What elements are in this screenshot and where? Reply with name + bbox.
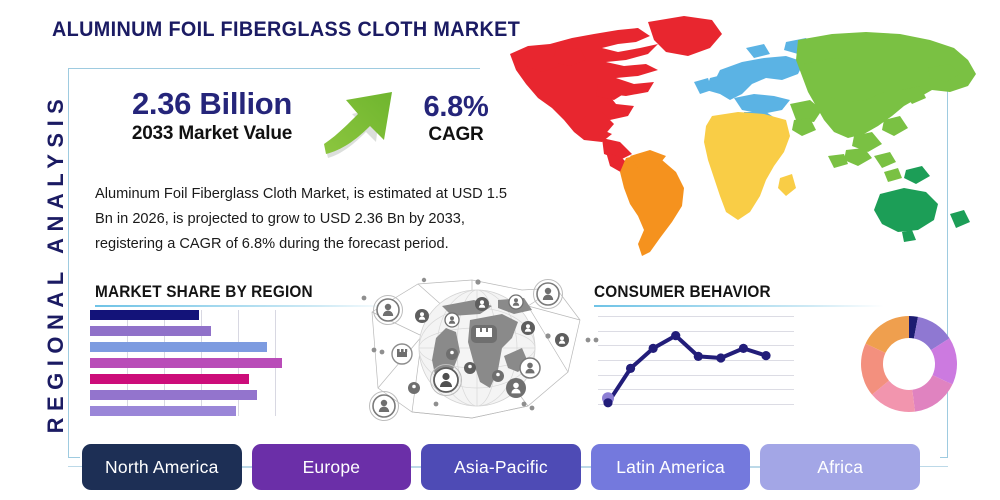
bar-chart-bar	[90, 406, 236, 416]
line-chart-marker	[671, 331, 680, 340]
region-button-europe[interactable]: Europe	[252, 444, 412, 490]
bar-chart-bar	[90, 358, 282, 368]
section-market-share: MARKET SHARE BY REGION	[95, 283, 395, 307]
region-button-asia-pacific[interactable]: Asia-Pacific	[421, 444, 581, 490]
section-consumer-behavior: CONSUMER BEHAVIOR	[594, 283, 884, 307]
bar-chart-bar	[90, 374, 249, 384]
region-connector	[581, 467, 591, 468]
market-description: Aluminum Foil Fiberglass Cloth Market, i…	[95, 182, 510, 257]
bar-chart-bar	[90, 390, 257, 400]
infographic-root: ALUMINUM FOIL FIBERGLASS CLOTH MARKET RE…	[0, 0, 1000, 500]
section-rule-consumer-behavior	[594, 305, 884, 307]
bar-chart-bar	[90, 326, 211, 336]
region-connector	[242, 467, 252, 468]
line-chart-marker	[603, 398, 612, 407]
line-chart-marker	[694, 352, 703, 361]
side-label-regional-analysis: REGIONAL ANALYSIS	[43, 73, 69, 453]
line-chart-marker	[716, 353, 725, 362]
section-title-consumer-behavior: CONSUMER BEHAVIOR	[594, 283, 864, 302]
line-chart-series	[598, 310, 794, 416]
bar-chart-bar	[90, 310, 199, 320]
line-chart-marker	[761, 351, 770, 360]
region-connector	[750, 467, 760, 468]
world-map-icon	[498, 8, 998, 270]
region-button-north-america[interactable]: North America	[82, 444, 242, 490]
kpi-value-text: 2.36 Billion	[96, 88, 328, 121]
kpi-value-caption: 2033 Market Value	[96, 123, 328, 145]
page-title: ALUMINUM FOIL FIBERGLASS CLOTH MARKET	[52, 17, 520, 42]
kpi-block: 2.36 Billion 2033 Market Value 6.8% CAGR	[96, 88, 506, 166]
kpi-market-value: 2.36 Billion 2033 Market Value	[96, 88, 328, 145]
region-button-latin-america[interactable]: Latin America	[591, 444, 751, 490]
kpi-cagr: 6.8% CAGR	[401, 92, 511, 146]
line-chart-consumer-behavior	[598, 310, 794, 416]
line-chart-marker	[739, 344, 748, 353]
donut-chart-segments	[853, 308, 965, 420]
region-connector	[411, 467, 421, 468]
bar-chart-bars	[90, 310, 282, 416]
bar-chart-bar	[90, 342, 267, 352]
section-title-market-share: MARKET SHARE BY REGION	[95, 283, 374, 302]
line-chart-marker	[626, 364, 635, 373]
section-rule-market-share	[95, 305, 395, 307]
region-button-bar[interactable]: North AmericaEuropeAsia-PacificLatin Ame…	[82, 444, 920, 490]
kpi-cagr-caption: CAGR	[401, 124, 511, 146]
region-button-africa[interactable]: Africa	[760, 444, 920, 490]
bar-chart-market-share	[90, 310, 282, 416]
kpi-cagr-text: 6.8%	[401, 92, 511, 122]
line-chart-marker	[649, 344, 658, 353]
global-network-globe-icon	[352, 276, 602, 428]
